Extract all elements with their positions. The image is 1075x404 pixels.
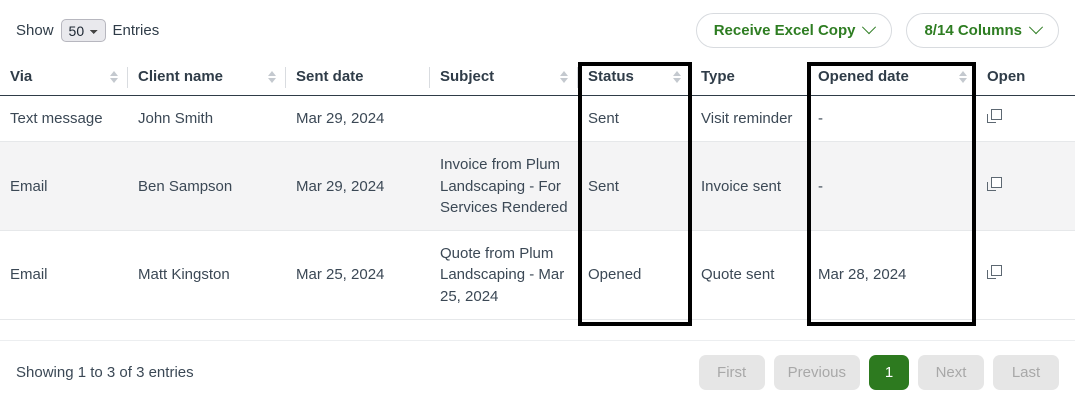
cell-subject: Quote from Plum Landscaping - Mar 25, 20… [430,231,578,320]
cell-client-name: Matt Kingston [128,231,286,320]
messages-table: Via Client name Sent date [0,60,1075,320]
column-label: Opened date [818,68,909,85]
pagination-page-1-button[interactable]: 1 [869,355,909,390]
column-header-status[interactable]: Status [578,60,691,96]
sort-icon[interactable] [110,71,118,83]
cell-status: Opened [578,231,691,320]
column-header-client-name[interactable]: Client name [128,60,286,96]
receive-excel-copy-button[interactable]: Receive Excel Copy [696,13,893,48]
column-label: Sent date [296,68,364,85]
entries-per-page-select[interactable]: 50 [61,19,106,42]
table-footer: Showing 1 to 3 of 3 entries First Previo… [0,340,1075,404]
cell-open[interactable] [977,96,1075,142]
sort-icon[interactable] [560,71,568,83]
cell-client-name: John Smith [128,96,286,142]
columns-selector-label: 8/14 Columns [924,22,1022,39]
column-label: Status [588,68,634,85]
show-entries-control: Show 50 Entries [16,19,159,42]
table-row[interactable]: Email Ben Sampson Mar 29, 2024 Invoice f… [0,142,1075,231]
columns-selector-button[interactable]: 8/14 Columns [906,13,1059,48]
table-row[interactable]: Text message John Smith Mar 29, 2024 Sen… [0,96,1075,142]
pagination-previous-button[interactable]: Previous [774,355,860,390]
table-toolbar: Show 50 Entries Receive Excel Copy 8/14 … [0,0,1075,60]
cell-opened-date: - [808,96,977,142]
sort-icon[interactable] [673,71,681,83]
cell-status: Sent [578,96,691,142]
cell-type: Visit reminder [691,96,808,142]
pagination-first-button[interactable]: First [699,355,765,390]
cell-subject: Invoice from Plum Landscaping - For Serv… [430,142,578,231]
column-label: Via [10,68,32,85]
column-header-type[interactable]: Type [691,60,808,96]
sort-icon[interactable] [959,71,967,83]
cell-opened-date: - [808,142,977,231]
column-header-via[interactable]: Via [0,60,128,96]
chevron-down-icon [862,20,876,34]
cell-type: Invoice sent [691,142,808,231]
cell-open[interactable] [977,142,1075,231]
cell-client-name: Ben Sampson [128,142,286,231]
entries-label: Entries [113,22,160,39]
sort-icon[interactable] [268,71,276,83]
column-header-open[interactable]: Open [977,60,1075,96]
column-label: Type [701,68,735,85]
column-header-opened-date[interactable]: Opened date [808,60,977,96]
pagination-last-button[interactable]: Last [993,355,1059,390]
column-label: Open [987,68,1025,85]
messages-table-wrap: Via Client name Sent date [0,60,1075,340]
cell-via: Email [0,142,128,231]
cell-via: Email [0,231,128,320]
cell-status: Sent [578,142,691,231]
pagination-next-button[interactable]: Next [918,355,984,390]
column-header-subject[interactable]: Subject [430,60,578,96]
column-label: Subject [440,68,494,85]
sent-messages-panel: Show 50 Entries Receive Excel Copy 8/14 … [0,0,1075,404]
column-label: Client name [138,68,223,85]
cell-type: Quote sent [691,231,808,320]
table-header: Via Client name Sent date [0,60,1075,96]
copy-window-icon[interactable] [987,109,1002,123]
cell-sent-date: Mar 25, 2024 [286,231,430,320]
receive-excel-copy-label: Receive Excel Copy [714,22,856,39]
showing-entries-text: Showing 1 to 3 of 3 entries [16,364,194,381]
cell-subject [430,96,578,142]
table-row[interactable]: Email Matt Kingston Mar 25, 2024 Quote f… [0,231,1075,320]
cell-open[interactable] [977,231,1075,320]
show-label: Show [16,22,54,39]
cell-sent-date: Mar 29, 2024 [286,96,430,142]
table-header-row: Via Client name Sent date [0,60,1075,96]
cell-opened-date: Mar 28, 2024 [808,231,977,320]
copy-window-icon[interactable] [987,265,1002,279]
cell-via: Text message [0,96,128,142]
cell-sent-date: Mar 29, 2024 [286,142,430,231]
toolbar-actions: Receive Excel Copy 8/14 Columns [696,13,1059,48]
chevron-down-icon [1029,20,1043,34]
copy-window-icon[interactable] [987,177,1002,191]
table-body: Text message John Smith Mar 29, 2024 Sen… [0,96,1075,320]
pagination: First Previous 1 Next Last [699,355,1059,390]
column-header-sent-date[interactable]: Sent date [286,60,430,96]
